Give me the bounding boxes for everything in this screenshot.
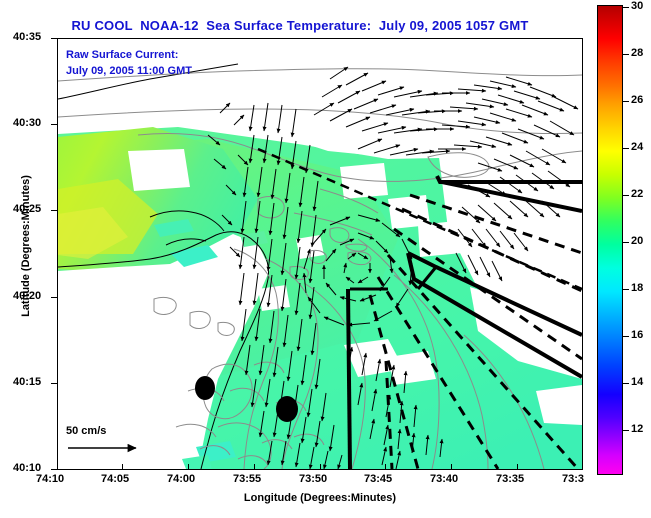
x-tick-label: 73:45: [364, 473, 392, 485]
sst-map-svg: [58, 39, 582, 469]
x-tick-label: 73:35: [496, 473, 524, 485]
y-tick-label: 40:10: [13, 462, 41, 474]
colorbar-ticks: 30 28 26 24 22 20 18 16 14 12: [623, 0, 651, 518]
y-tick-label: 40:35: [13, 31, 41, 43]
colorbar-tick-label: 12: [631, 423, 643, 435]
y-axis-label: Latitude (Degrees:Minutes): [20, 156, 32, 336]
colorbar-tick-label: 20: [631, 235, 643, 247]
colorbar-tick-label: 14: [631, 376, 643, 388]
colorbar-tick-label: 18: [631, 282, 643, 294]
y-tick-label: 40:15: [13, 376, 41, 388]
x-tick-label: 73:50: [299, 473, 327, 485]
colorbar-tick-label: 26: [631, 94, 643, 106]
colorbar: [597, 5, 623, 475]
page-title: RU COOL NOAA-12 Sea Surface Temperature:…: [0, 18, 600, 33]
colorbar-tick-label: 22: [631, 188, 643, 200]
y-tick-label: 40:30: [13, 117, 41, 129]
colorbar-tick-label: 28: [631, 47, 643, 59]
x-tick-label: 74:00: [167, 473, 195, 485]
x-tick-label: 73:3: [562, 473, 584, 485]
x-tick-label: 73:55: [233, 473, 261, 485]
colorbar-tick-label: 24: [631, 141, 643, 153]
x-tick-label: 74:10: [36, 473, 64, 485]
x-axis-label: Longitude (Degrees:Minutes): [57, 492, 583, 504]
scale-bar-arrow: [66, 441, 146, 455]
x-tick-label: 74:05: [101, 473, 129, 485]
annotation-line-1: Raw Surface Current:: [66, 49, 178, 61]
colorbar-tick-label: 16: [631, 329, 643, 341]
station-marker-2: [276, 396, 298, 422]
x-tick-label: 73:40: [430, 473, 458, 485]
scale-bar-label: 50 cm/s: [66, 425, 146, 437]
scale-bar: 50 cm/s: [66, 425, 146, 460]
figure-canvas: RU COOL NOAA-12 Sea Surface Temperature:…: [0, 0, 651, 518]
sst-map-plot[interactable]: Raw Surface Current: July 09, 2005 11:00…: [57, 38, 583, 470]
colorbar-tick-label: 30: [631, 0, 643, 12]
station-marker-1: [195, 376, 215, 400]
annotation-line-2: July 09, 2005 11:00 GMT: [66, 65, 192, 77]
